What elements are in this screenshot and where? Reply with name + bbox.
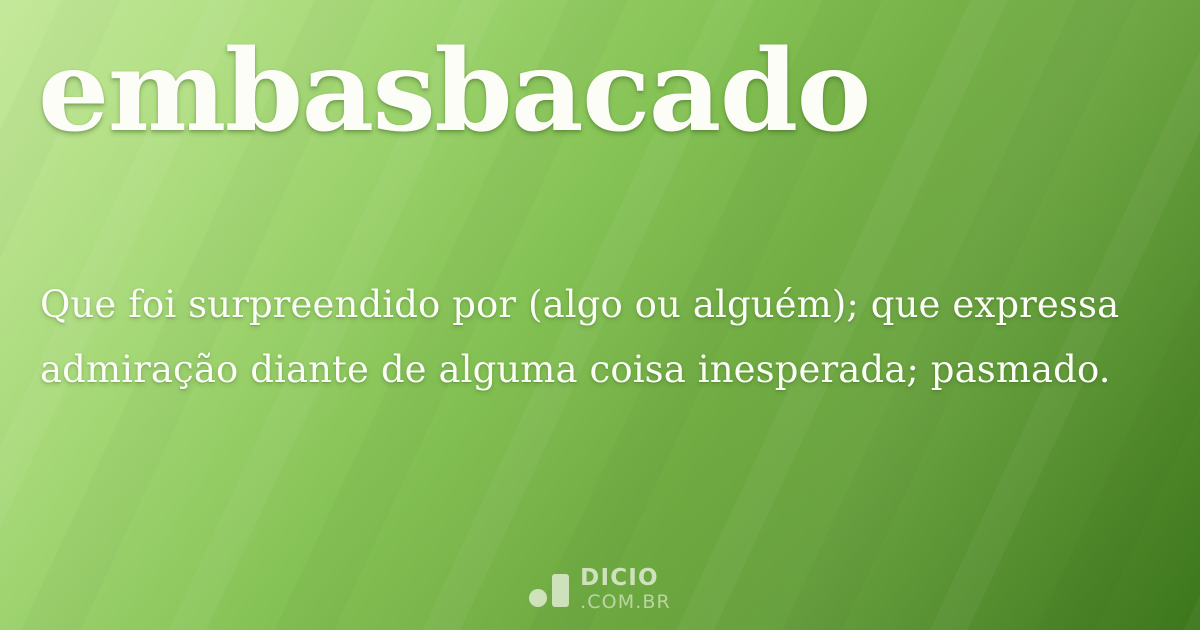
dicio-wordmark: DICIO .COM.BR [580,567,671,612]
card-content: embasbacado Que foi surpreendido por (al… [0,0,1200,630]
dicio-logo[interactable]: DICIO .COM.BR [0,567,1200,612]
dicio-logo-tld: .COM.BR [580,593,671,612]
circle-icon [529,589,547,607]
rounded-bar-icon [552,574,569,607]
word-definition: Que foi surpreendido por (algo ou alguém… [40,272,1136,402]
word-share-card: embasbacado Que foi surpreendido por (al… [0,0,1200,630]
word-title: embasbacado [38,34,1158,150]
dicio-logo-name: DICIO [580,567,671,590]
dicio-mark-icon [529,573,569,607]
